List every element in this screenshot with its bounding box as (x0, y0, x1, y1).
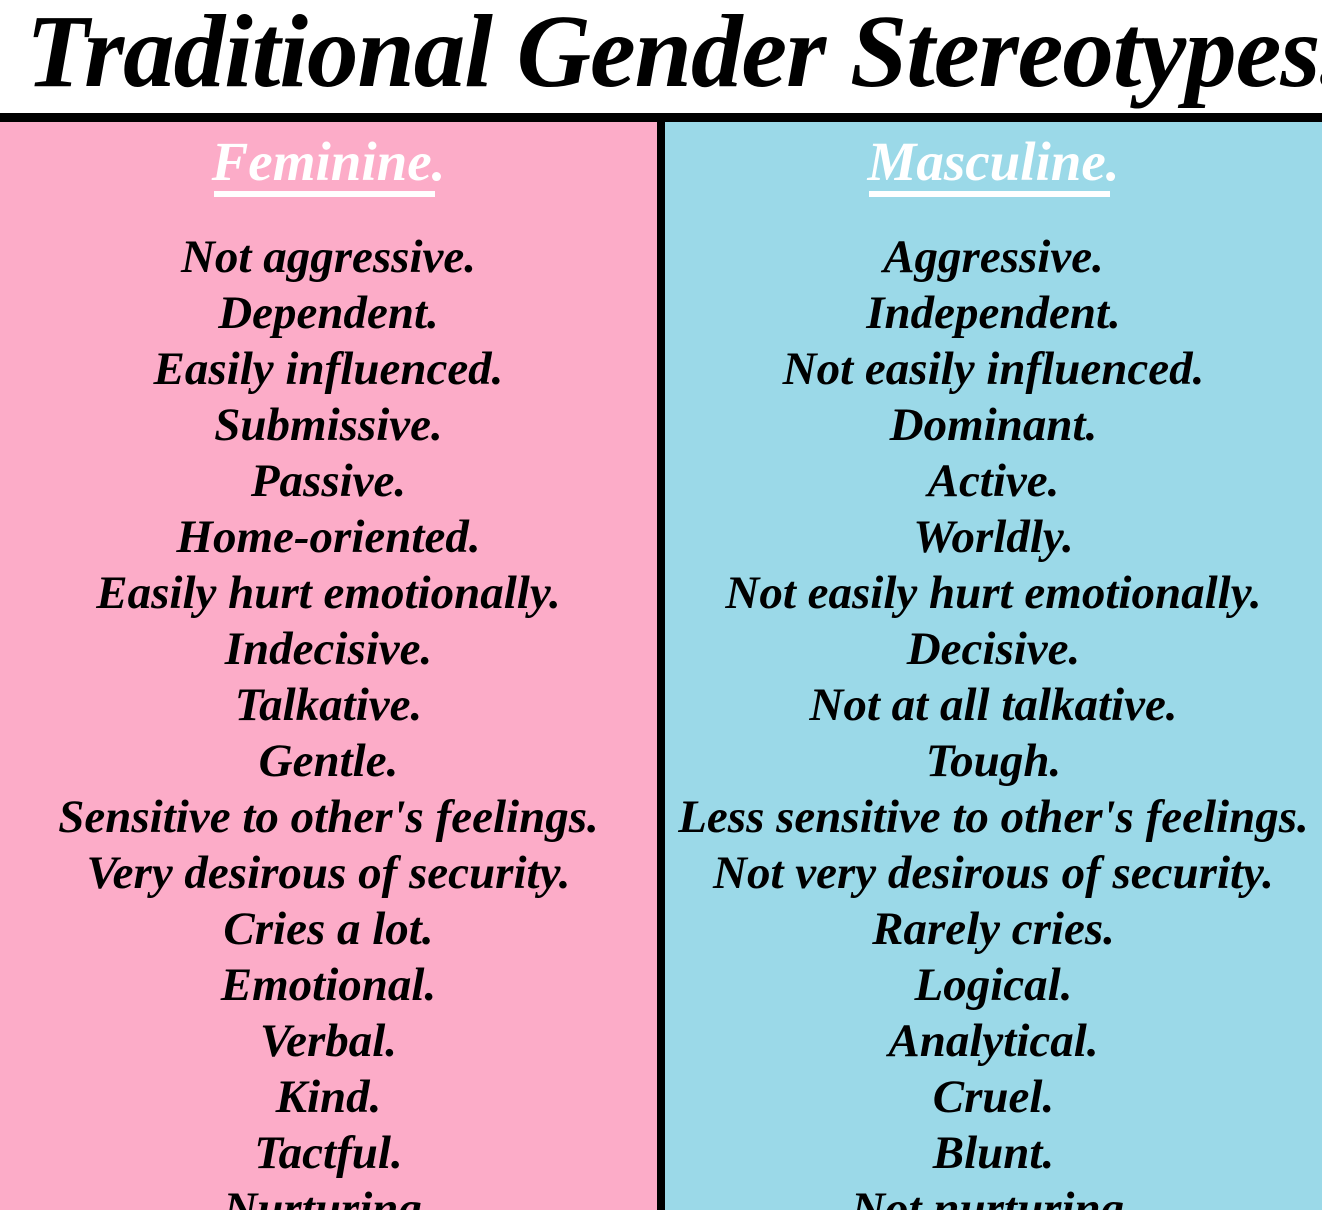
list-item: Verbal. (0, 1013, 657, 1069)
columns-container: Feminine. Not aggressive. Dependent. Eas… (0, 122, 1322, 1210)
list-item: Home-oriented. (0, 509, 657, 565)
list-item: Cries a lot. (0, 901, 657, 957)
list-item: Decisive. (665, 621, 1322, 677)
list-item: Talkative. (0, 677, 657, 733)
list-item: Gentle. (0, 733, 657, 789)
list-item: Not aggressive. (0, 229, 657, 285)
stereotypes-poster: Traditional Gender Stereotypes. Feminine… (0, 0, 1322, 1210)
list-item: Sensitive to other's feelings. (0, 789, 657, 845)
list-item: Not very desirous of security. (665, 845, 1322, 901)
trait-list-feminine: Not aggressive. Dependent. Easily influe… (0, 229, 657, 1210)
list-item: Not nurturing. (665, 1181, 1322, 1210)
list-item: Not easily influenced. (665, 341, 1322, 397)
list-item: Very desirous of security. (0, 845, 657, 901)
list-item: Passive. (0, 453, 657, 509)
list-item: Indecisive. (0, 621, 657, 677)
page-title: Traditional Gender Stereotypes. (26, 0, 1293, 108)
column-heading-masculine: Masculine. (665, 132, 1322, 197)
list-item: Dominant. (665, 397, 1322, 453)
column-heading-feminine: Feminine. (0, 132, 657, 197)
column-divider (657, 122, 665, 1210)
list-item: Not at all talkative. (665, 677, 1322, 733)
list-item: Less sensitive to other's feelings. (665, 789, 1322, 845)
list-item: Independent. (665, 285, 1322, 341)
column-feminine: Feminine. Not aggressive. Dependent. Eas… (0, 122, 657, 1210)
list-item: Aggressive. (665, 229, 1322, 285)
list-item: Not easily hurt emotionally. (665, 565, 1322, 621)
list-item: Tough. (665, 733, 1322, 789)
list-item: Logical. (665, 957, 1322, 1013)
list-item: Emotional. (0, 957, 657, 1013)
list-item: Easily influenced. (0, 341, 657, 397)
list-item: Cruel. (665, 1069, 1322, 1125)
list-item: Easily hurt emotionally. (0, 565, 657, 621)
list-item: Kind. (0, 1069, 657, 1125)
list-item: Analytical. (665, 1013, 1322, 1069)
title-band: Traditional Gender Stereotypes. (0, 0, 1322, 113)
list-item: Active. (665, 453, 1322, 509)
list-item: Nurturing. (0, 1181, 657, 1210)
list-item: Worldly. (665, 509, 1322, 565)
list-item: Blunt. (665, 1125, 1322, 1181)
column-masculine: Masculine. Aggressive. Independent. Not … (665, 122, 1322, 1210)
title-divider-rule (0, 113, 1322, 122)
list-item: Dependent. (0, 285, 657, 341)
list-item: Submissive. (0, 397, 657, 453)
trait-list-masculine: Aggressive. Independent. Not easily infl… (665, 229, 1322, 1210)
list-item: Tactful. (0, 1125, 657, 1181)
column-heading-feminine-label: Feminine. (212, 132, 446, 197)
list-item: Rarely cries. (665, 901, 1322, 957)
column-heading-masculine-label: Masculine. (867, 132, 1119, 197)
